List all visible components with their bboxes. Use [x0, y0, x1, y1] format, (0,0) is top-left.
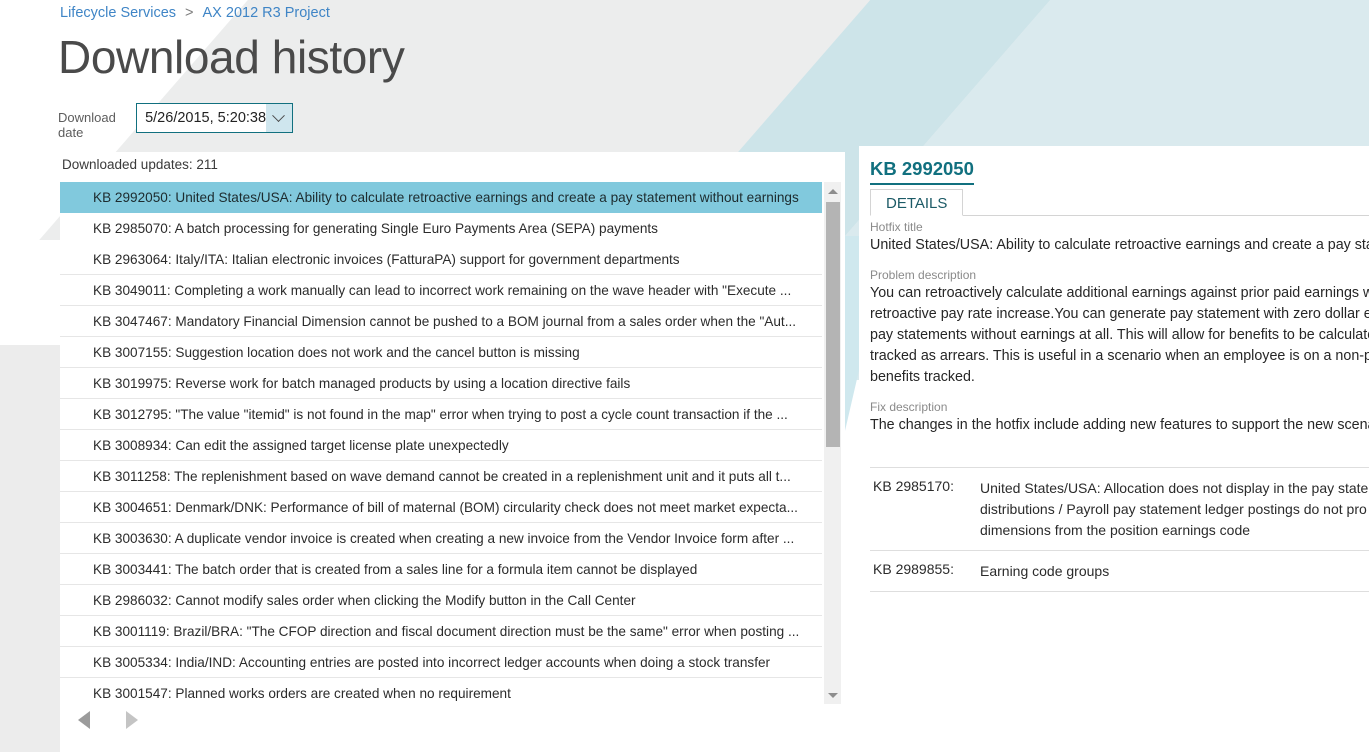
breadcrumb-item-ax-project[interactable]: AX 2012 R3 Project — [203, 5, 330, 21]
list-item[interactable]: KB 3047467: Mandatory Financial Dimensio… — [60, 306, 822, 337]
list-item[interactable]: KB 3049011: Completing a work manually c… — [60, 275, 822, 306]
breadcrumb: Lifecycle Services>AX 2012 R3 Project — [60, 5, 330, 21]
details-fields: Hotfix titleUnited States/USA: Ability t… — [870, 220, 1369, 436]
list-item[interactable]: KB 2992050: United States/USA: Ability t… — [60, 182, 822, 213]
triangle-left-icon — [78, 711, 90, 729]
field-value: You can retroactively calculate addition… — [870, 283, 1369, 388]
breadcrumb-item-lifecycle-services[interactable]: Lifecycle Services — [60, 5, 176, 21]
list-pager — [60, 704, 156, 736]
list-item[interactable]: KB 3003441: The batch order that is crea… — [60, 554, 822, 585]
chevron-down-icon[interactable] — [266, 104, 292, 132]
field-value: The changes in the hotfix include adding… — [870, 415, 1369, 436]
list-item[interactable]: KB 3003630: A duplicate vendor invoice i… — [60, 523, 822, 554]
list-item[interactable]: KB 2986032: Cannot modify sales order wh… — [60, 585, 822, 616]
scrollbar-thumb[interactable] — [826, 202, 840, 447]
list-item[interactable]: KB 3007155: Suggestion location does not… — [60, 337, 822, 368]
triangle-up-icon[interactable] — [824, 182, 842, 200]
related-kb-table: KB 2985170:United States/USA: Allocation… — [870, 467, 1369, 592]
download-date-select[interactable]: 5/26/2015, 5:20:38 PM — [136, 103, 293, 133]
list-item[interactable]: KB 3019975: Reverse work for batch manag… — [60, 368, 822, 399]
downloads-list-panel: Downloaded updates: 211 KB 2992050: Unit… — [60, 152, 845, 752]
field-label: Problem description — [870, 268, 1369, 282]
list-scrollbar[interactable] — [823, 182, 841, 704]
related-kb-id: KB 2989855: — [870, 561, 980, 582]
list-item[interactable]: KB 3005334: India/IND: Accounting entrie… — [60, 647, 822, 678]
updates-list: KB 2992050: United States/USA: Ability t… — [60, 182, 822, 704]
field-value: United States/USA: Ability to calculate … — [870, 235, 1369, 256]
triangle-right-icon — [126, 711, 138, 729]
field-label: Hotfix title — [870, 220, 1369, 234]
triangle-down-icon[interactable] — [824, 686, 842, 704]
hotfix-details-panel: KB 2992050 DETAILS Hotfix titleUnited St… — [859, 146, 1369, 752]
list-item[interactable]: KB 3004651: Denmark/DNK: Performance of … — [60, 492, 822, 523]
related-kb-id: KB 2985170: — [870, 478, 980, 541]
page-title: Download history — [58, 30, 404, 84]
pager-previous-button[interactable] — [60, 704, 108, 736]
table-row[interactable]: KB 2989855:Earning code groups — [870, 551, 1369, 592]
details-kb-number[interactable]: KB 2992050 — [870, 158, 974, 185]
table-row[interactable]: KB 2985170:United States/USA: Allocation… — [870, 468, 1369, 551]
list-scroll-area: KB 2992050: United States/USA: Ability t… — [60, 182, 845, 704]
related-kb-description: United States/USA: Allocation does not d… — [980, 478, 1369, 541]
download-date-filter: Download date 5/26/2015, 5:20:38 PM — [58, 96, 293, 140]
download-date-label: Download date — [58, 110, 124, 140]
list-item[interactable]: KB 3012795: "The value "itemid" is not f… — [60, 399, 822, 430]
downloaded-updates-count: Downloaded updates: 211 — [60, 152, 845, 182]
list-item[interactable]: KB 3001119: Brazil/BRA: "The CFOP direct… — [60, 616, 822, 647]
breadcrumb-separator: > — [185, 5, 193, 21]
list-item[interactable]: KB 3001547: Planned works orders are cre… — [60, 678, 822, 704]
list-item[interactable]: KB 2963064: Italy/ITA: Italian electroni… — [60, 244, 822, 275]
list-item[interactable]: KB 3008934: Can edit the assigned target… — [60, 430, 822, 461]
details-tabstrip: DETAILS — [870, 189, 1369, 216]
list-item[interactable]: KB 2985070: A batch processing for gener… — [60, 213, 822, 244]
tab-details[interactable]: DETAILS — [870, 189, 963, 216]
list-item[interactable]: KB 3011258: The replenishment based on w… — [60, 461, 822, 492]
related-kb-description: Earning code groups — [980, 561, 1109, 582]
pager-next-button[interactable] — [108, 704, 156, 736]
field-label: Fix description — [870, 400, 1369, 414]
